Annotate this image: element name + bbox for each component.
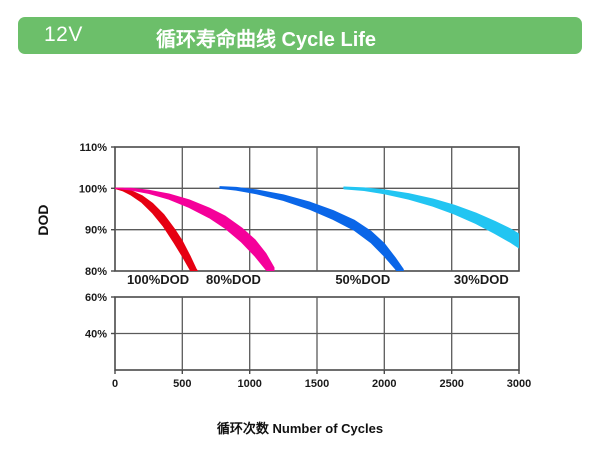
y-tick-110: 110% (79, 142, 107, 154)
curve-label-50pctDOD: 50%DOD (335, 272, 390, 287)
vertical-gridlines (182, 147, 451, 370)
y-tick-80: 80% (85, 266, 107, 278)
x-tick-2000: 2000 (372, 378, 396, 390)
y-axis-title: DOD (35, 204, 51, 235)
y-tick-40: 40% (85, 329, 107, 341)
x-tick-1000: 1000 (237, 378, 261, 390)
curve-label-80pctDOD: 80%DOD (206, 272, 261, 287)
curve-label-30pctDOD: 30%DOD (454, 272, 509, 287)
y-tick-60: 60% (85, 292, 107, 304)
x-tick-1500: 1500 (305, 378, 329, 390)
cycle-life-chart: 110% 100% 90% 80% 60% 40% 0 500 1000 150… (0, 60, 600, 390)
page-title: 循环寿命曲线 Cycle Life (156, 23, 376, 52)
header-voltage-label: 12V (44, 23, 83, 47)
curve-label-100pctDOD: 100%DOD (127, 272, 189, 287)
chart-svg: 110% 100% 90% 80% 60% 40% 0 500 1000 150… (0, 60, 600, 390)
y-tick-90: 90% (85, 225, 107, 237)
x-axis-labels: 0 500 1000 1500 2000 2500 3000 (112, 378, 531, 390)
x-tick-3000: 3000 (507, 378, 531, 390)
x-tick-0: 0 (112, 378, 118, 390)
y-axis-labels-upper: 110% 100% 90% 80% (79, 142, 107, 278)
y-tick-100: 100% (79, 183, 107, 195)
x-axis-title: 循环次数 Number of Cycles (217, 421, 383, 436)
x-tick-500: 500 (173, 378, 191, 390)
header-banner: 12V 循环寿命曲线 Cycle Life (18, 17, 582, 54)
x-axis-caption-wrap: 循环次数 Number of Cycles (0, 418, 600, 438)
x-tick-2500: 2500 (439, 378, 463, 390)
y-axis-labels-lower: 60% 40% (85, 292, 107, 341)
dod-curve-labels: 100%DOD80%DOD50%DOD30%DOD (127, 272, 509, 287)
